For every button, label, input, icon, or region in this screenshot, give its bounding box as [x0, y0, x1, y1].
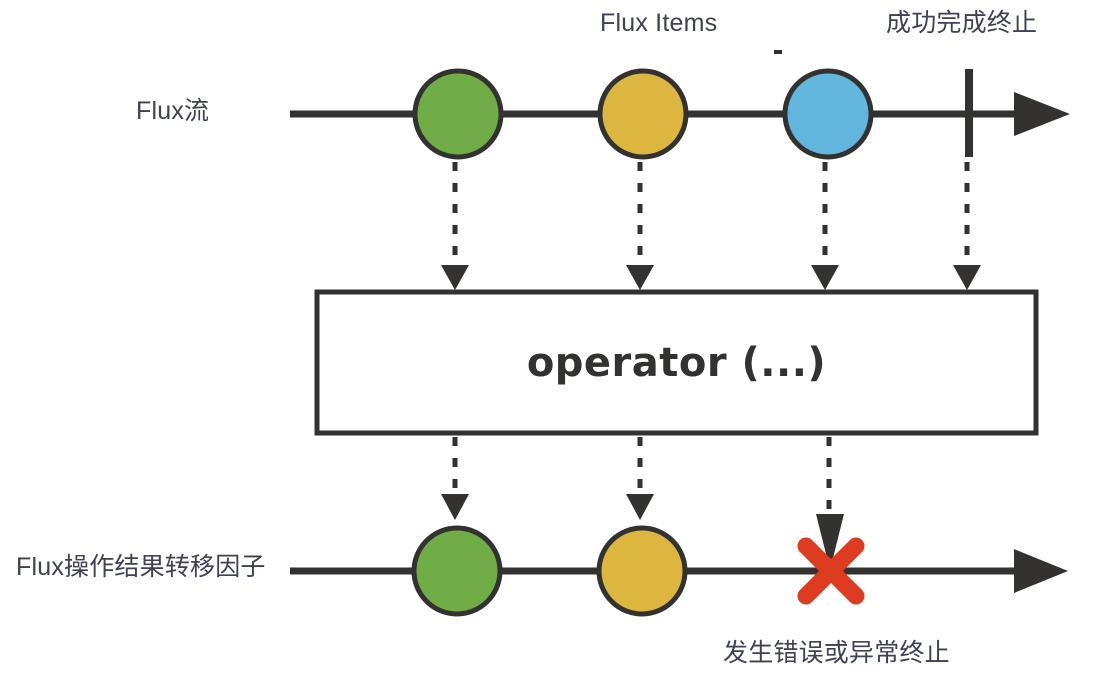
connector-complete-in-arrowhead: [953, 265, 981, 290]
result-item-yellow[interactable]: [599, 528, 685, 614]
label-error-terminate: 发生错误或异常终止: [723, 640, 950, 668]
connector-blue-in-arrowhead: [811, 265, 839, 290]
source-timeline-arrowhead: [1014, 92, 1070, 136]
connector-yellow-in-arrowhead: [626, 265, 654, 290]
connector-yellow-out-arrowhead: [626, 494, 654, 520]
diagram-canvas: Flux流 Flux Items 成功完成终止 Flux操作结果转移因子 发生错…: [0, 0, 1108, 690]
flux-result-timeline: [290, 528, 1068, 614]
label-flux-result: Flux操作结果转移因子: [16, 554, 266, 582]
connector-green-in-arrowhead: [441, 265, 469, 290]
source-item-green[interactable]: [415, 71, 501, 157]
label-success-complete: 成功完成终止: [886, 10, 1037, 38]
flux-source-timeline: [290, 69, 1070, 157]
input-connectors: [441, 162, 981, 290]
label-flux-items: Flux Items: [600, 10, 717, 38]
operator-label: operator (...): [317, 292, 1036, 433]
source-item-yellow[interactable]: [600, 71, 686, 157]
label-flux-stream: Flux流: [136, 98, 209, 126]
result-timeline-arrowhead: [1014, 549, 1068, 593]
result-item-green[interactable]: [414, 528, 500, 614]
stray-dash-artifact: [774, 50, 782, 54]
source-item-blue[interactable]: [785, 71, 871, 157]
connector-green-out-arrowhead: [441, 494, 469, 520]
